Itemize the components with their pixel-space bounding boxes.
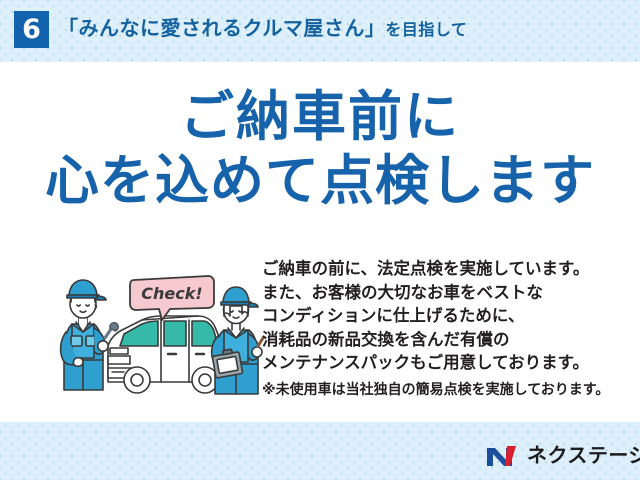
- brand-name: ネクステージ: [527, 446, 640, 466]
- promo-page: 6 「みんなに愛されるクルマ屋さん」を目指して ご納車前に 心を込めて点検します: [0, 0, 640, 480]
- check-bubble-label: Check!: [141, 284, 202, 303]
- nextage-n-logo-icon: [486, 445, 520, 467]
- description-line: ご納車の前に、法定点検を実施しています。: [262, 258, 622, 282]
- description-line: 消耗品の新品交換を含んだ有償の: [262, 329, 622, 353]
- header: 6 「みんなに愛されるクルマ屋さん」を目指して: [0, 0, 640, 62]
- brand-logo: ネクステージ: [486, 441, 640, 471]
- description-line: メンテナンスパックもご用意しております。: [262, 352, 622, 376]
- headline-line-2: 心を込めて点検します: [0, 148, 640, 214]
- description-note: ※未使用車は当社独自の簡易点検を実施しております。: [262, 378, 622, 400]
- description-line: また、お客様の大切なお車をベストな: [262, 282, 622, 306]
- header-title-tail: を目指して: [385, 22, 467, 39]
- header-title-quote: 「みんなに愛されるクルマ屋さん」: [58, 18, 385, 40]
- description-line: コンディションに仕上げるために、: [262, 305, 622, 329]
- mechanic-right-icon: [212, 287, 263, 394]
- section-number-badge: 6: [14, 11, 49, 48]
- page-title: ご納車前に 心を込めて点検します: [0, 86, 640, 214]
- header-title: 「みんなに愛されるクルマ屋さん」を目指して: [58, 14, 467, 46]
- headline-line-1: ご納車前に: [0, 86, 640, 148]
- van-icon: [108, 316, 225, 393]
- content-card: ご納車前に 心を込めて点検します: [0, 62, 640, 422]
- description-text: ご納車の前に、法定点検を実施しています。 また、お客様の大切なお車をベストな コ…: [262, 258, 622, 400]
- mechanics-van-illustration: Check!: [58, 262, 268, 402]
